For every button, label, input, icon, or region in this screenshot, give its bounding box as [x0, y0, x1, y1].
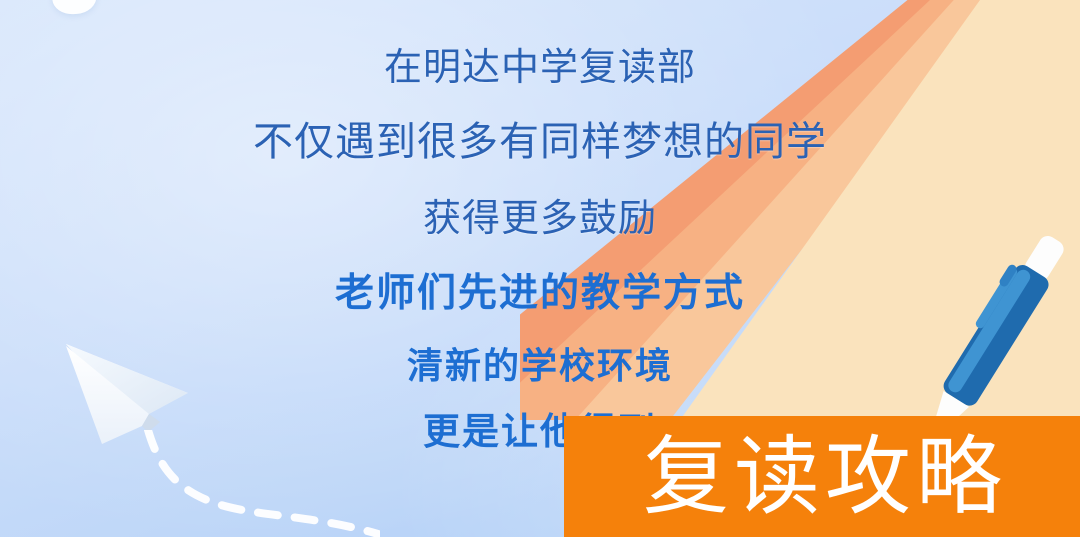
message-line-2: 不仅遇到很多有同样梦想的同学	[0, 103, 1080, 181]
poster-canvas: 在明达中学复读部 不仅遇到很多有同样梦想的同学 获得更多鼓励 老师们先进的教学方…	[0, 0, 1080, 537]
badge-strategy: 复读攻略	[564, 416, 1080, 537]
cloud-icon	[51, 0, 98, 15]
dashed-trail-icon	[140, 430, 380, 537]
message-line-1: 在明达中学复读部	[0, 33, 1080, 103]
badge-label: 复读攻略	[637, 434, 1007, 520]
